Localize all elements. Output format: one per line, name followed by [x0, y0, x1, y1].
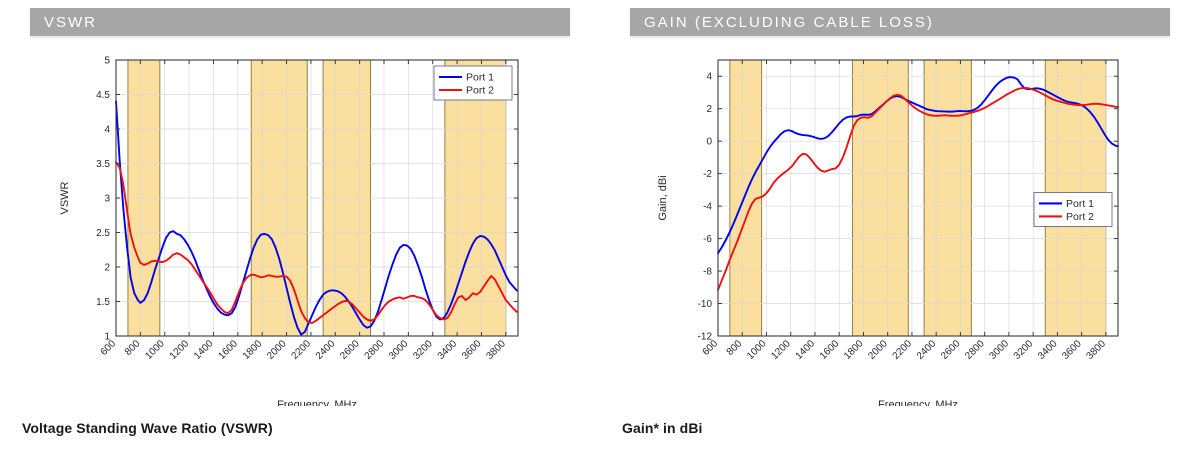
x-tick-label: 3800 [484, 338, 508, 362]
x-tick-label: 800 [123, 338, 143, 358]
y-tick-label: -12 [698, 332, 713, 343]
x-axis-title: Frequency, MHz [277, 399, 357, 406]
x-tick-label: 2200 [290, 338, 314, 362]
x-tick-label: 1200 [168, 338, 192, 362]
x-tick-label: 3800 [1084, 338, 1108, 362]
x-tick-label: 2200 [891, 338, 915, 362]
section-header-vswr: VSWR [30, 8, 570, 36]
legend[interactable]: Port 1Port 2 [1034, 192, 1112, 226]
x-tick-label: 1600 [818, 338, 842, 362]
x-tick-label: 3600 [1060, 338, 1084, 362]
legend[interactable]: Port 1Port 2 [434, 66, 512, 100]
legend-label: Port 2 [466, 85, 494, 97]
y-tick-label: -10 [698, 299, 713, 310]
x-tick-label: 1600 [216, 338, 240, 362]
x-tick-label: 3400 [436, 338, 460, 362]
y-tick-label: 5 [104, 56, 110, 67]
y-tick-label: 1 [104, 332, 110, 343]
x-axis-title: Frequency, MHz [878, 399, 958, 406]
y-tick-label: 0 [706, 137, 712, 148]
figure-page: VSWR 60080010001200140016001800200022002… [0, 0, 1200, 449]
y-tick-label: 3 [104, 194, 110, 205]
x-tick-label: 3200 [1012, 338, 1036, 362]
y-tick-label: -4 [703, 202, 712, 213]
y-tick-label: 4 [706, 72, 712, 83]
x-tick-label: 3200 [411, 338, 435, 362]
highlight-band [924, 60, 971, 336]
x-tick-label: 1400 [794, 338, 818, 362]
x-tick-label: 2600 [338, 338, 362, 362]
y-tick-label: 4 [104, 125, 110, 136]
vswr-chart-svg: 6008001000120014001600180020002200240026… [30, 46, 570, 406]
highlight-band [853, 60, 909, 336]
legend-label: Port 2 [1066, 211, 1094, 223]
x-tick-label: 1000 [143, 338, 167, 362]
panel-gain: GAIN (EXCLUDING CABLE LOSS) 600800100012… [600, 0, 1200, 449]
x-tick-label: 2400 [314, 338, 338, 362]
y-tick-label: 1.5 [96, 297, 110, 308]
x-tick-label: 3600 [460, 338, 484, 362]
x-tick-label: 1800 [842, 338, 866, 362]
x-tick-label: 1400 [192, 338, 216, 362]
y-tick-label: 3.5 [96, 159, 110, 170]
x-tick-label: 1200 [769, 338, 793, 362]
caption-vswr: Voltage Standing Wave Ratio (VSWR) [22, 420, 273, 436]
x-tick-label: 2000 [866, 338, 890, 362]
y-axis-title: Gain, dBi [657, 175, 669, 220]
x-tick-label: 3400 [1036, 338, 1060, 362]
x-tick-label: 2400 [915, 338, 939, 362]
x-tick-label: 3000 [387, 338, 411, 362]
x-tick-label: 2800 [963, 338, 987, 362]
y-tick-label: 2 [104, 263, 110, 274]
y-tick-label: 2.5 [96, 228, 110, 239]
section-header-title: VSWR [30, 14, 97, 31]
y-tick-label: 4.5 [96, 90, 110, 101]
x-tick-label: 2000 [265, 338, 289, 362]
x-tick-label: 1800 [241, 338, 265, 362]
y-tick-label: -6 [703, 234, 712, 245]
legend-label: Port 1 [466, 72, 494, 84]
y-tick-label: -2 [703, 169, 712, 180]
x-tick-label: 2800 [363, 338, 387, 362]
y-axis-title: VSWR [59, 181, 71, 214]
section-header-gain: GAIN (EXCLUDING CABLE LOSS) [630, 8, 1170, 36]
x-tick-label: 2600 [939, 338, 963, 362]
legend-label: Port 1 [1066, 198, 1094, 210]
y-tick-label: 2 [706, 104, 712, 115]
x-tick-label: 1000 [745, 338, 769, 362]
section-header-title: GAIN (EXCLUDING CABLE LOSS) [630, 14, 934, 31]
vswr-chart: 6008001000120014001600180020002200240026… [30, 46, 570, 406]
y-tick-label: -8 [703, 267, 712, 278]
caption-gain: Gain* in dBi [622, 420, 703, 436]
panel-vswr: VSWR 60080010001200140016001800200022002… [0, 0, 600, 449]
gain-chart: 6008001000120014001600180020002200240026… [630, 46, 1170, 406]
gain-chart-svg: 6008001000120014001600180020002200240026… [630, 46, 1170, 406]
x-tick-label: 800 [725, 338, 745, 358]
x-tick-label: 3000 [988, 338, 1012, 362]
